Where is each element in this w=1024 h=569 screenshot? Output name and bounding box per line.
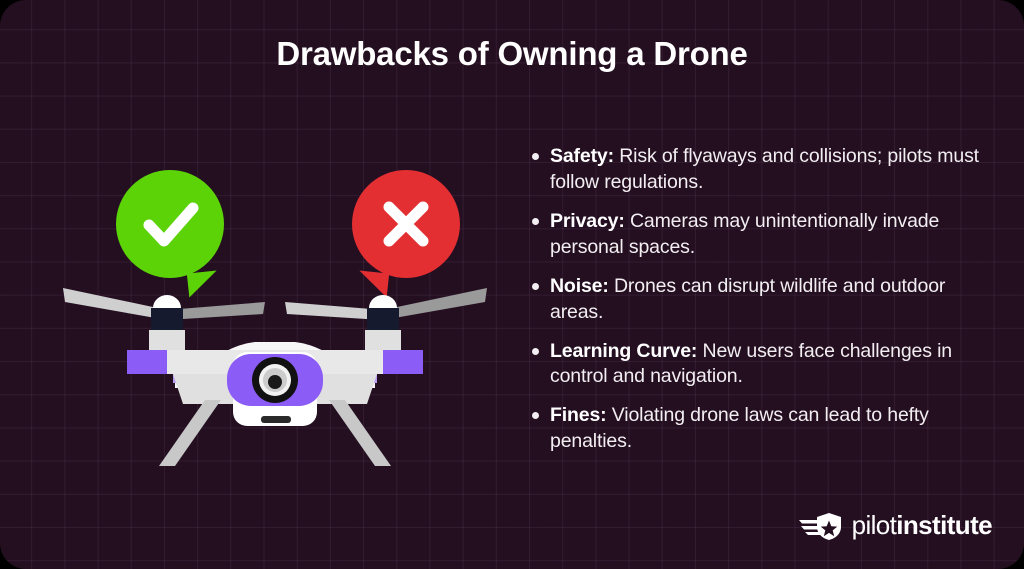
- bullet-term: Noise:: [550, 275, 609, 297]
- motor-right: [365, 295, 401, 352]
- bullet-term: Learning Curve:: [550, 340, 697, 362]
- logo-wordmark: pilotinstitute: [852, 510, 992, 541]
- page-title: Drawbacks of Owning a Drone: [0, 36, 1024, 72]
- check-icon: [116, 170, 224, 278]
- bullet-term: Privacy:: [550, 210, 625, 232]
- motor-left: [149, 295, 185, 352]
- logo-word-primary: pilot: [852, 510, 897, 540]
- list-item: Fines: Violating drone laws can lead to …: [528, 403, 988, 455]
- infographic-canvas: Drawbacks of Owning a Drone: [0, 0, 1024, 569]
- check-speech-bubble: [116, 170, 224, 278]
- bullet-text: Drones can disrupt wildlife and outdoor …: [550, 275, 945, 323]
- list-item: Safety: Risk of flyaways and collisions;…: [528, 144, 988, 196]
- cross-speech-bubble: [352, 170, 460, 278]
- bullet-text: Violating drone laws can lead to hefty p…: [550, 404, 929, 452]
- winged-shield-star-icon: [799, 511, 843, 541]
- list-item: Learning Curve: New users face challenge…: [528, 339, 988, 391]
- drone-illustration: [55, 280, 495, 475]
- drone-icon: [55, 280, 495, 470]
- drone-leg-left: [159, 400, 221, 466]
- logo-word-secondary: institute: [896, 510, 992, 540]
- brand-logo: pilotinstitute: [799, 510, 992, 541]
- cross-icon: [352, 170, 460, 278]
- bullet-text: Risk of flyaways and collisions; pilots …: [550, 145, 979, 193]
- list-item: Privacy: Cameras may unintentionally inv…: [528, 209, 988, 261]
- camera-lens-pupil: [268, 375, 282, 389]
- camera-vent-slot: [261, 416, 291, 423]
- drawbacks-list: Safety: Risk of flyaways and collisions;…: [528, 144, 988, 468]
- bullet-term: Safety:: [550, 145, 614, 167]
- list-item: Noise: Drones can disrupt wildlife and o…: [528, 274, 988, 326]
- drone-leg-right: [329, 400, 391, 466]
- bullet-term: Fines:: [550, 404, 607, 426]
